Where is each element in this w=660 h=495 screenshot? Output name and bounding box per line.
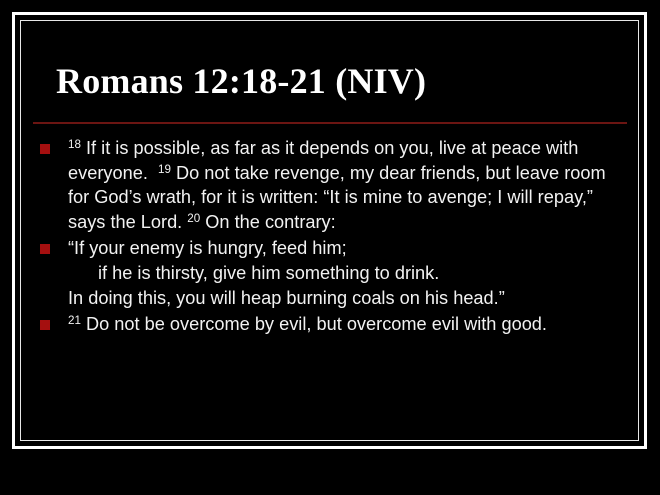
bullet-text-1: 18 If it is possible, as far as it depen… bbox=[68, 136, 628, 234]
slide: Romans 12:18-21 (NIV) 18 If it is possib… bbox=[0, 0, 660, 495]
verse-text: Do not be overcome by evil, but overcome… bbox=[81, 314, 547, 334]
verse-line: if he is thirsty, give him something to … bbox=[68, 261, 628, 286]
page-title: Romans 12:18-21 (NIV) bbox=[56, 60, 426, 102]
list-item: 21 Do not be overcome by evil, but overc… bbox=[34, 312, 628, 337]
square-bullet-icon bbox=[40, 320, 50, 330]
verse-line: In doing this, you will heap burning coa… bbox=[68, 286, 628, 311]
square-bullet-icon bbox=[40, 144, 50, 154]
title-divider bbox=[33, 122, 627, 124]
verse-text: On the contrary: bbox=[200, 212, 335, 232]
list-item: 18 If it is possible, as far as it depen… bbox=[34, 136, 628, 234]
bullet-text-2: “If your enemy is hungry, feed him;if he… bbox=[68, 236, 628, 310]
verse-number: 18 bbox=[68, 138, 81, 151]
verse-line: “If your enemy is hungry, feed him; bbox=[68, 236, 628, 261]
square-bullet-icon bbox=[40, 244, 50, 254]
list-item: “If your enemy is hungry, feed him;if he… bbox=[34, 236, 628, 310]
bullet-text-3: 21 Do not be overcome by evil, but overc… bbox=[68, 312, 628, 337]
verse-number: 21 bbox=[68, 314, 81, 327]
verse-number: 20 bbox=[187, 212, 200, 225]
slide-body: 18 If it is possible, as far as it depen… bbox=[34, 136, 628, 339]
verse-number: 19 bbox=[158, 163, 171, 176]
